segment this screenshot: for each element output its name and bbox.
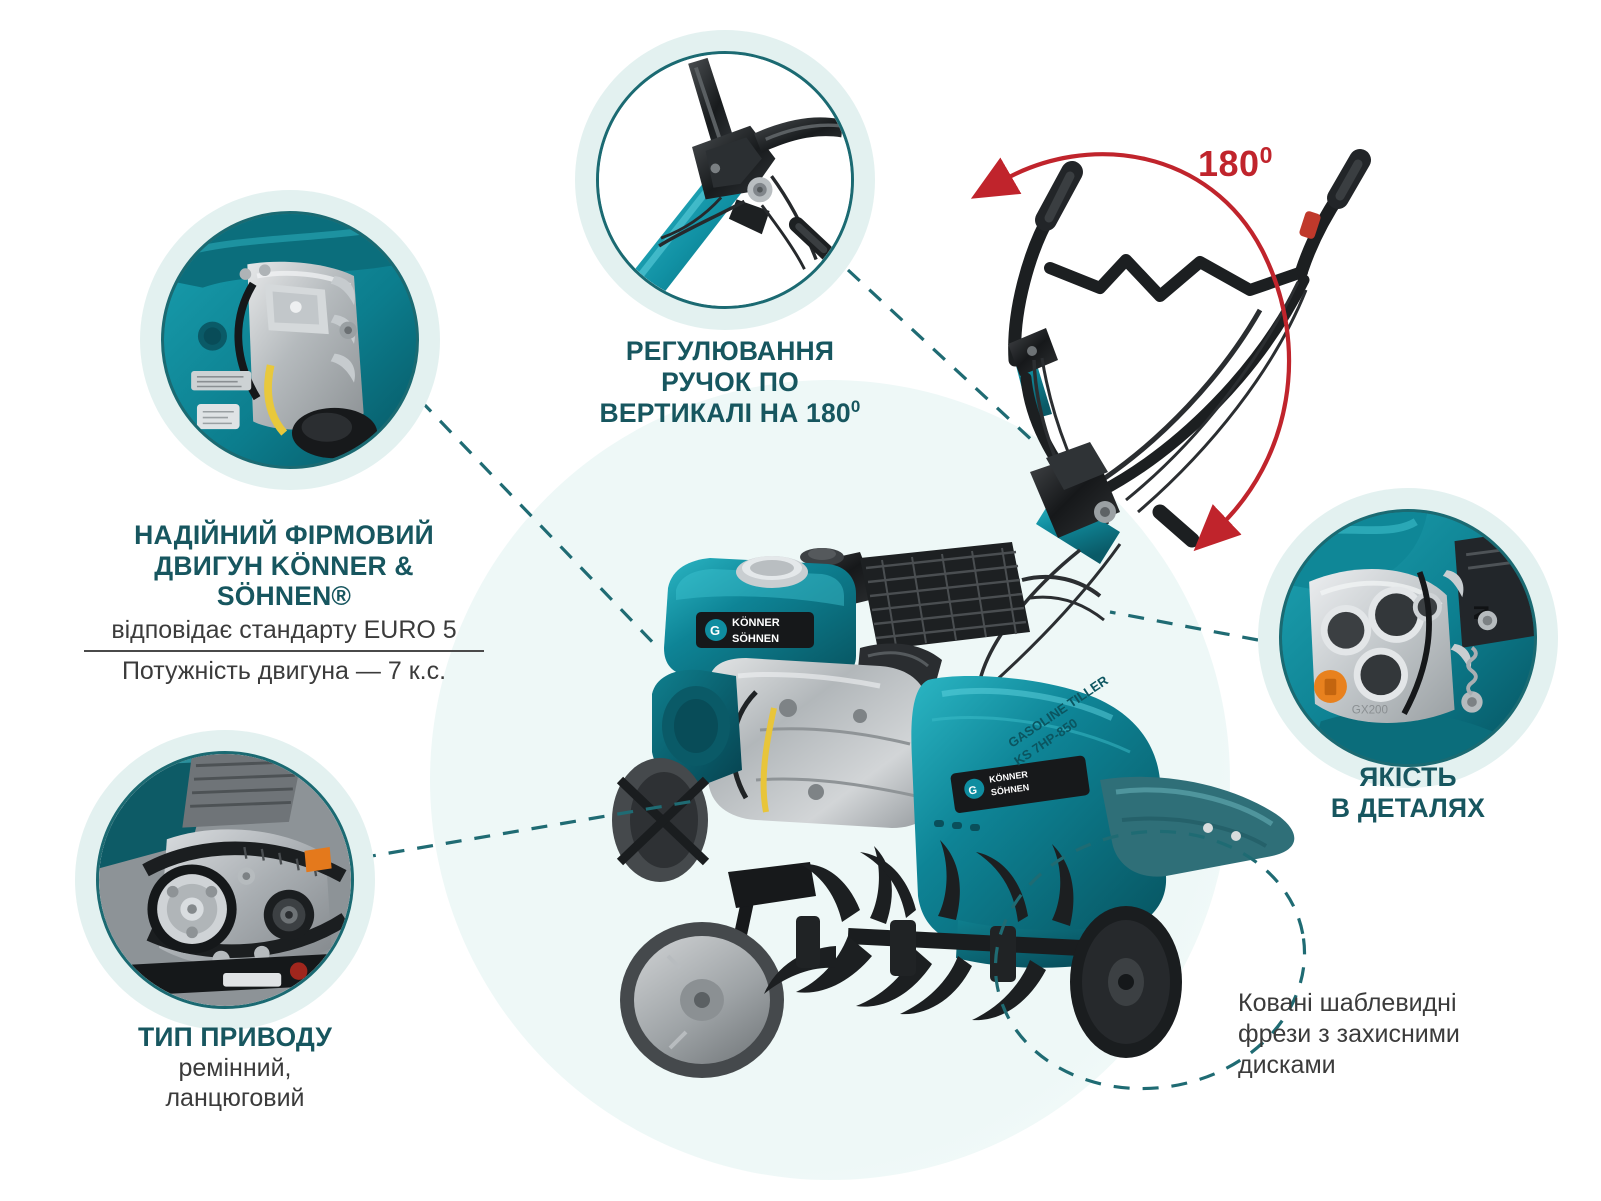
engine-heading-line-2: ДВИГУН KÖNNER & SÖHNEN®: [84, 551, 484, 612]
inset-ring: N GX200: [1279, 509, 1537, 767]
quality-heading-line-2: В ДЕТАЛЯХ: [1238, 793, 1578, 824]
inset-drive-closeup[interactable]: [75, 730, 375, 1030]
handles-heading-line-2: РУЧОК ПО: [560, 367, 900, 398]
rotation-degree-unit: 0: [1260, 142, 1273, 168]
quality-closeup-photo: N GX200: [1282, 512, 1534, 764]
annotation-cutters: Ковані шаблевидні фрези з захисними диск…: [1238, 988, 1578, 1081]
svg-text:G: G: [710, 623, 720, 638]
annotation-handles: РЕГУЛЮВАННЯ РУЧОК ПО ВЕРТИКАЛІ НА 1800: [560, 336, 900, 429]
svg-text:GX200: GX200: [1352, 704, 1389, 717]
inset-ring: [96, 751, 354, 1009]
drive-heading: ТИП ПРИВОДУ: [70, 1022, 400, 1053]
drive-subtitle-line-1: ремінний,: [70, 1053, 400, 1084]
inset-engine-closeup[interactable]: [140, 190, 440, 490]
quality-heading-line-1: ЯКІСТЬ: [1238, 762, 1578, 793]
cutters-line-3: дисками: [1238, 1050, 1578, 1081]
annotation-engine: НАДІЙНИЙ ФІРМОВИЙ ДВИГУН KÖNNER & SÖHNEN…: [84, 520, 484, 686]
cutters-line-1: Ковані шаблевидні: [1238, 988, 1578, 1019]
drive-subtitle-line-2: ланцюговий: [70, 1083, 400, 1114]
inset-quality-closeup[interactable]: N GX200: [1258, 488, 1558, 788]
drive-closeup-photo: [99, 754, 351, 1006]
handles-heading-line-3-text: ВЕРТИКАЛІ НА 180: [599, 398, 850, 428]
engine-divider-rule: [84, 650, 484, 652]
inset-handle-adjustment-closeup[interactable]: [575, 30, 875, 330]
handles-heading-line-3: ВЕРТИКАЛІ НА 1800: [560, 397, 900, 429]
engine-power-spec: Потужність двигуна — 7 к.с.: [84, 656, 484, 686]
rotation-degree-value: 180: [1198, 143, 1260, 184]
engine-subtitle: відповідає стандарту EURO 5: [84, 615, 484, 645]
annotation-drive: ТИП ПРИВОДУ ремінний, ланцюговий: [70, 1022, 400, 1114]
rotation-degree-badge: 1800: [1198, 142, 1273, 185]
handles-heading-line-1: РЕГУЛЮВАННЯ: [560, 336, 900, 367]
engine-heading-line-1: НАДІЙНИЙ ФІРМОВИЙ: [84, 520, 484, 551]
svg-text:G: G: [968, 784, 978, 797]
svg-text:KÖNNER: KÖNNER: [732, 616, 780, 629]
annotation-quality: ЯКІСТЬ В ДЕТАЛЯХ: [1238, 762, 1578, 823]
handles-heading-degree: 0: [851, 397, 861, 416]
infographic-canvas: G KÖNNER SÖHNEN: [0, 0, 1601, 1201]
engine-closeup-photo: [164, 214, 416, 466]
handle-closeup-photo: [599, 54, 851, 306]
inset-ring: [596, 51, 854, 309]
svg-text:SÖHNEN: SÖHNEN: [732, 632, 779, 645]
inset-ring: [161, 211, 419, 469]
cutters-line-2: фрези з захисними: [1238, 1019, 1578, 1050]
